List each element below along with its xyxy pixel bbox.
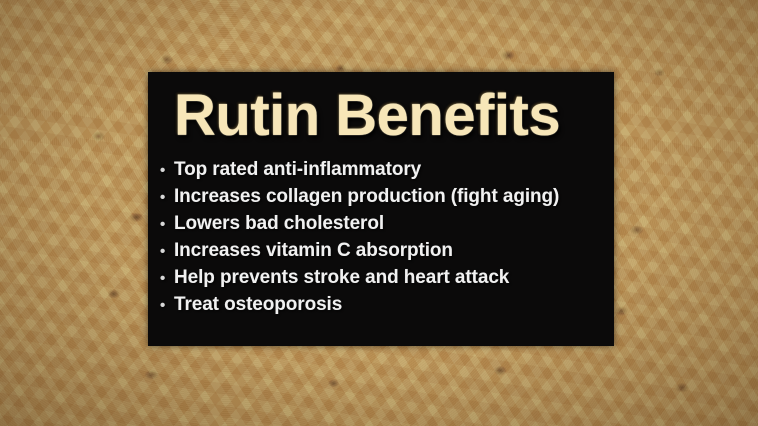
bullet-point-icon: • — [160, 266, 174, 292]
list-item: • Treat osteoporosis — [160, 292, 614, 319]
list-item-label: Increases vitamin C absorption — [174, 238, 453, 264]
list-item-label: Top rated anti-inflammatory — [174, 157, 421, 183]
list-item: • Lowers bad cholesterol — [160, 211, 614, 238]
bullet-point-icon: • — [160, 185, 174, 211]
list-item-label: Increases collagen production (fight agi… — [174, 184, 559, 210]
list-item-label: Lowers bad cholesterol — [174, 211, 384, 237]
list-item: • Increases vitamin C absorption — [160, 238, 614, 265]
page-title: Rutin Benefits — [148, 72, 614, 145]
benefits-list: • Top rated anti-inflammatory • Increase… — [148, 157, 614, 319]
list-item-label: Treat osteoporosis — [174, 292, 342, 318]
list-item: • Top rated anti-inflammatory — [160, 157, 614, 184]
bullet-point-icon: • — [160, 212, 174, 238]
bullet-point-icon: • — [160, 239, 174, 265]
bullet-point-icon: • — [160, 158, 174, 184]
list-item: • Increases collagen production (fight a… — [160, 184, 614, 211]
content-panel: Rutin Benefits • Top rated anti-inflamma… — [148, 72, 614, 346]
bullet-point-icon: • — [160, 293, 174, 319]
slide-canvas: Rutin Benefits • Top rated anti-inflamma… — [0, 0, 758, 426]
list-item: • Help prevents stroke and heart attack — [160, 265, 614, 292]
list-item-label: Help prevents stroke and heart attack — [174, 265, 509, 291]
